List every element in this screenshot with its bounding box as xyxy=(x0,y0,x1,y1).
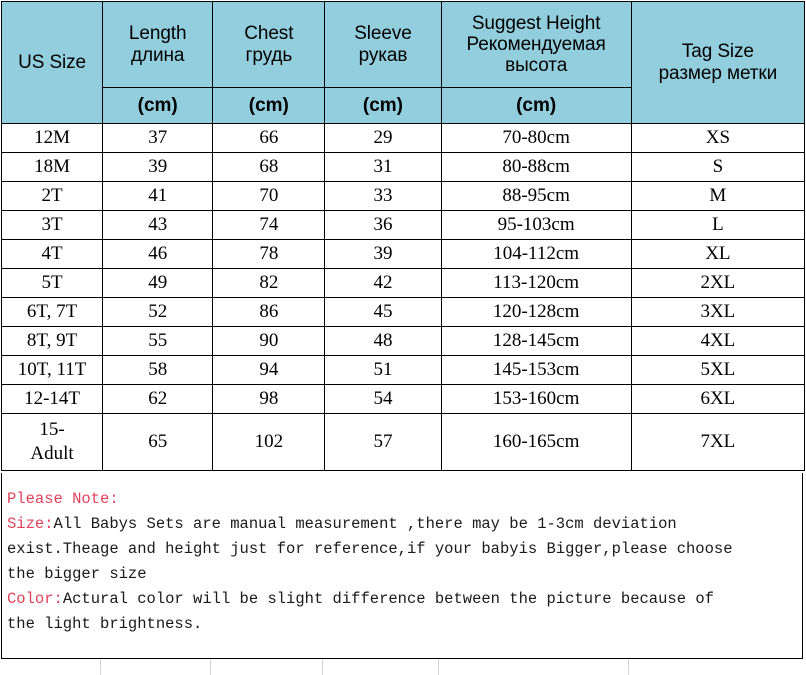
cell-suggest-height: 113-120cm xyxy=(441,269,631,298)
table-row: 3T43743695-103cmL xyxy=(2,211,805,240)
header-tag-size: Tag Size размер метки xyxy=(631,2,804,124)
cell-tag-size: XL xyxy=(631,240,804,269)
note-text: Please Note: Size:All Babys Sets are man… xyxy=(2,473,802,637)
cell-suggest-height: 70-80cm xyxy=(441,124,631,153)
header-chest-ru: грудь xyxy=(213,45,324,66)
header-tag-size-en: Tag Size xyxy=(632,41,804,62)
cell-us-size: 5T xyxy=(2,269,103,298)
header-length-en: Length xyxy=(103,23,212,44)
note-heading: Please Note: xyxy=(7,490,119,508)
table-row: 2T41703388-95cmM xyxy=(2,182,805,211)
cell-chest: 66 xyxy=(213,124,325,153)
note-color-label: Color: xyxy=(7,590,63,608)
cell-sleeve: 33 xyxy=(325,182,441,211)
tail-cell xyxy=(439,659,629,675)
cell-tag-size: L xyxy=(631,211,804,240)
cell-chest: 78 xyxy=(213,240,325,269)
table-row: 4T467839104-112cmXL xyxy=(2,240,805,269)
note-block: Please Note: Size:All Babys Sets are man… xyxy=(1,473,803,659)
cell-length: 62 xyxy=(103,385,213,414)
header-us-size: US Size xyxy=(2,2,103,124)
cell-us-size: 2T xyxy=(2,182,103,211)
cell-tag-size: M xyxy=(631,182,804,211)
cell-suggest-height: 128-145cm xyxy=(441,327,631,356)
cell-tag-size: 5XL xyxy=(631,356,804,385)
cell-chest: 98 xyxy=(213,385,325,414)
cell-chest: 70 xyxy=(213,182,325,211)
table-body: 12M37662970-80cmXS18M39683180-88cmS2T417… xyxy=(2,124,805,471)
cell-tag-size: 7XL xyxy=(631,414,804,471)
size-chart-table: US Size Length длина Chest грудь Sleeve … xyxy=(1,1,805,471)
header-chest: Chest грудь xyxy=(213,2,325,88)
header-sleeve: Sleeve рукав xyxy=(325,2,441,88)
cell-length: 65 xyxy=(103,414,213,471)
cell-length: 39 xyxy=(103,153,213,182)
size-chart-sheet: US Size Length длина Chest грудь Sleeve … xyxy=(0,1,806,675)
cell-suggest-height: 88-95cm xyxy=(441,182,631,211)
header-chest-unit: (cm) xyxy=(213,88,325,124)
cell-suggest-height: 160-165cm xyxy=(441,414,631,471)
cell-length: 49 xyxy=(103,269,213,298)
cell-length: 46 xyxy=(103,240,213,269)
cell-us-size: 8T, 9T xyxy=(2,327,103,356)
cell-length: 43 xyxy=(103,211,213,240)
cell-sleeve: 48 xyxy=(325,327,441,356)
tail-cell xyxy=(101,659,211,675)
cell-chest: 86 xyxy=(213,298,325,327)
cell-sleeve: 57 xyxy=(325,414,441,471)
table-row: 12-14T629854153-160cm6XL xyxy=(2,385,805,414)
table-header: US Size Length длина Chest грудь Sleeve … xyxy=(2,2,805,124)
header-suggest-height-ru: Рекомендуемая высота xyxy=(442,34,631,77)
table-row: 15-Adult6510257160-165cm7XL xyxy=(2,414,805,471)
table-row: 6T, 7T528645120-128cm3XL xyxy=(2,298,805,327)
header-sleeve-unit: (cm) xyxy=(325,88,441,124)
cell-tag-size: 6XL xyxy=(631,385,804,414)
note-size-label: Size: xyxy=(7,515,54,533)
table-row: 18M39683180-88cmS xyxy=(2,153,805,182)
cell-us-size: 12-14T xyxy=(2,385,103,414)
tail-cell xyxy=(0,659,101,675)
cell-suggest-height: 145-153cm xyxy=(441,356,631,385)
cell-length: 52 xyxy=(103,298,213,327)
cell-tag-size: 4XL xyxy=(631,327,804,356)
header-length-ru: длина xyxy=(103,45,212,66)
cell-chest: 102 xyxy=(213,414,325,471)
header-tag-size-ru: размер метки xyxy=(632,63,804,84)
cell-length: 55 xyxy=(103,327,213,356)
tail-cell xyxy=(211,659,323,675)
cell-suggest-height: 153-160cm xyxy=(441,385,631,414)
empty-spreadsheet-strip xyxy=(0,659,806,675)
cell-us-size: 4T xyxy=(2,240,103,269)
table-row: 10T, 11T589451145-153cm5XL xyxy=(2,356,805,385)
header-row-titles: US Size Length длина Chest грудь Sleeve … xyxy=(2,2,805,88)
cell-chest: 74 xyxy=(213,211,325,240)
cell-sleeve: 39 xyxy=(325,240,441,269)
cell-sleeve: 51 xyxy=(325,356,441,385)
header-length: Length длина xyxy=(103,2,213,88)
cell-sleeve: 45 xyxy=(325,298,441,327)
cell-sleeve: 36 xyxy=(325,211,441,240)
header-length-unit: (cm) xyxy=(103,88,213,124)
cell-us-size: 10T, 11T xyxy=(2,356,103,385)
cell-sleeve: 31 xyxy=(325,153,441,182)
note-size-body: All Babys Sets are manual measurement ,t… xyxy=(7,515,733,583)
header-chest-en: Chest xyxy=(213,23,324,44)
cell-sleeve: 54 xyxy=(325,385,441,414)
table-row: 8T, 9T559048128-145cm4XL xyxy=(2,327,805,356)
header-suggest-height-en: Suggest Height xyxy=(442,13,631,34)
header-sleeve-en: Sleeve xyxy=(325,23,440,44)
cell-suggest-height: 95-103cm xyxy=(441,211,631,240)
cell-chest: 68 xyxy=(213,153,325,182)
cell-us-size: 12M xyxy=(2,124,103,153)
note-color-body: Actural color will be slight difference … xyxy=(7,590,714,633)
header-sleeve-ru: рукав xyxy=(325,45,440,66)
cell-length: 58 xyxy=(103,356,213,385)
cell-us-size: 15-Adult xyxy=(2,414,103,471)
cell-chest: 90 xyxy=(213,327,325,356)
cell-tag-size: XS xyxy=(631,124,804,153)
cell-us-size: 6T, 7T xyxy=(2,298,103,327)
tail-cell xyxy=(629,659,802,675)
cell-chest: 82 xyxy=(213,269,325,298)
cell-length: 37 xyxy=(103,124,213,153)
cell-tag-size: 2XL xyxy=(631,269,804,298)
tail-cell xyxy=(323,659,439,675)
cell-chest: 94 xyxy=(213,356,325,385)
cell-us-size: 3T xyxy=(2,211,103,240)
cell-suggest-height: 120-128cm xyxy=(441,298,631,327)
cell-tag-size: S xyxy=(631,153,804,182)
table-row: 5T498242113-120cm2XL xyxy=(2,269,805,298)
cell-tag-size: 3XL xyxy=(631,298,804,327)
table-row: 12M37662970-80cmXS xyxy=(2,124,805,153)
cell-us-size: 18M xyxy=(2,153,103,182)
header-suggest-height-unit: (cm) xyxy=(441,88,631,124)
cell-sleeve: 42 xyxy=(325,269,441,298)
cell-suggest-height: 80-88cm xyxy=(441,153,631,182)
cell-length: 41 xyxy=(103,182,213,211)
cell-sleeve: 29 xyxy=(325,124,441,153)
header-suggest-height: Suggest Height Рекомендуемая высота xyxy=(441,2,631,88)
header-us-size-en: US Size xyxy=(18,52,86,73)
cell-suggest-height: 104-112cm xyxy=(441,240,631,269)
